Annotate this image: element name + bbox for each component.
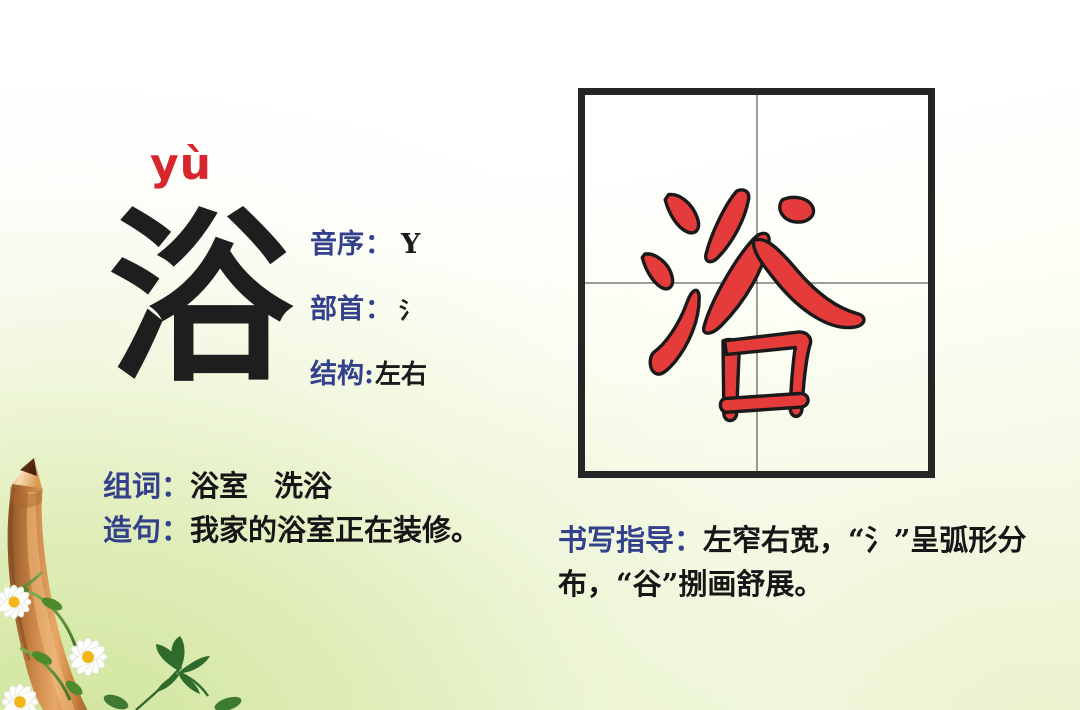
- sentence-row: 造句：我家的浴室正在装修。: [103, 508, 533, 552]
- grid-character-wrapper: [585, 95, 928, 471]
- vocabulary-and-sentence-block: 组词：浴室洗浴 造句：我家的浴室正在装修。: [103, 464, 533, 552]
- info-label-structure: 结构: [310, 352, 364, 391]
- info-row-structure: 结构 : 左右: [310, 352, 550, 417]
- daisy-flowers: [0, 585, 107, 710]
- stem-leaves: [10, 585, 85, 698]
- headword-character: 浴: [100, 198, 300, 398]
- info-colon: ：: [365, 222, 392, 261]
- info-label-phonetic-order: 音序: [310, 222, 364, 261]
- character-practice-grid: [578, 88, 935, 478]
- info-row-radical: 部首 ： 氵: [310, 287, 550, 352]
- vocabulary-label: 组词: [103, 469, 161, 503]
- sentence-text: 我家的浴室正在装修。: [190, 513, 480, 547]
- info-colon: :: [364, 359, 374, 390]
- pinyin-text: yù: [150, 143, 212, 187]
- info-value-phonetic-order: Y: [401, 229, 420, 260]
- red-brush-character: [587, 97, 927, 469]
- sentence-label: 造句: [103, 513, 161, 547]
- clover-leaves-decoration: [96, 630, 286, 710]
- info-colon: ：: [365, 287, 392, 326]
- leaf-cluster: [156, 636, 210, 694]
- guidance-colon: ：: [674, 523, 703, 557]
- flower-stems: [6, 572, 76, 700]
- character-lesson-slide: yù 浴 音序 ： Y 部首 ： 氵 结构 : 左右: [0, 0, 1080, 710]
- sentence-colon: ：: [161, 513, 190, 547]
- vocabulary-row: 组词：浴室洗浴: [103, 464, 533, 508]
- vocabulary-word-2: 洗浴: [274, 469, 332, 503]
- info-label-radical: 部首: [310, 287, 364, 326]
- vocabulary-word-1: 浴室: [190, 469, 248, 503]
- writing-guidance-block: 书写指导：左窄右宽，“氵”呈弧形分布，“谷”捌画舒展。: [558, 518, 1063, 606]
- info-row-phonetic-order: 音序 ： Y: [310, 222, 550, 287]
- character-info-list: 音序 ： Y 部首 ： 氵 结构 : 左右: [310, 222, 550, 417]
- vocabulary-colon: ：: [161, 469, 190, 503]
- guidance-label: 书写指导: [558, 523, 674, 557]
- info-value-structure: 左右: [375, 354, 427, 391]
- pencil-icon: [8, 458, 94, 710]
- info-value-radical: 氵: [399, 291, 422, 325]
